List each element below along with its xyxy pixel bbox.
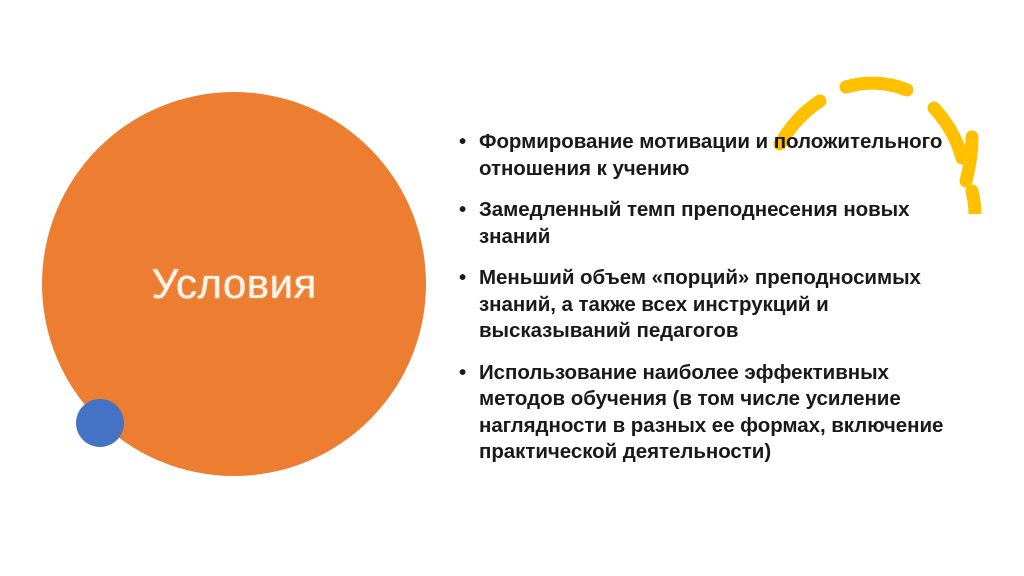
list-item-text: Формирование мотивации и положительного … xyxy=(479,129,955,182)
list-item-text: Замедленный темп преподнесения новых зна… xyxy=(479,197,955,250)
slide-canvas: Условия • Формирование мотивации и полож… xyxy=(0,0,1024,576)
title-circle-group: Условия xyxy=(0,0,450,576)
list-item: • Формирование мотивации и положительног… xyxy=(455,129,955,182)
bullet-list: • Формирование мотивации и положительног… xyxy=(455,129,955,466)
blue-circle-accent xyxy=(76,399,124,447)
list-item: • Замедленный темп преподнесения новых з… xyxy=(455,197,955,250)
arc-segment-4 xyxy=(966,137,972,181)
list-item: • Меньший объем «порций» преподносимых з… xyxy=(455,265,955,345)
bullet-marker-icon: • xyxy=(459,197,466,224)
list-item-text: Использование наиболее эффективных метод… xyxy=(479,360,955,466)
list-item: • Использование наиболее эффективных мет… xyxy=(455,360,955,466)
bullet-marker-icon: • xyxy=(459,265,466,292)
arc-segment-2 xyxy=(846,83,907,90)
list-item-text: Меньший объем «порций» преподносимых зна… xyxy=(479,265,955,345)
arc-segment-4-a xyxy=(972,191,975,214)
bullet-marker-icon: • xyxy=(459,129,466,156)
bullet-marker-icon: • xyxy=(459,360,466,387)
page-title: Условия xyxy=(42,258,426,310)
